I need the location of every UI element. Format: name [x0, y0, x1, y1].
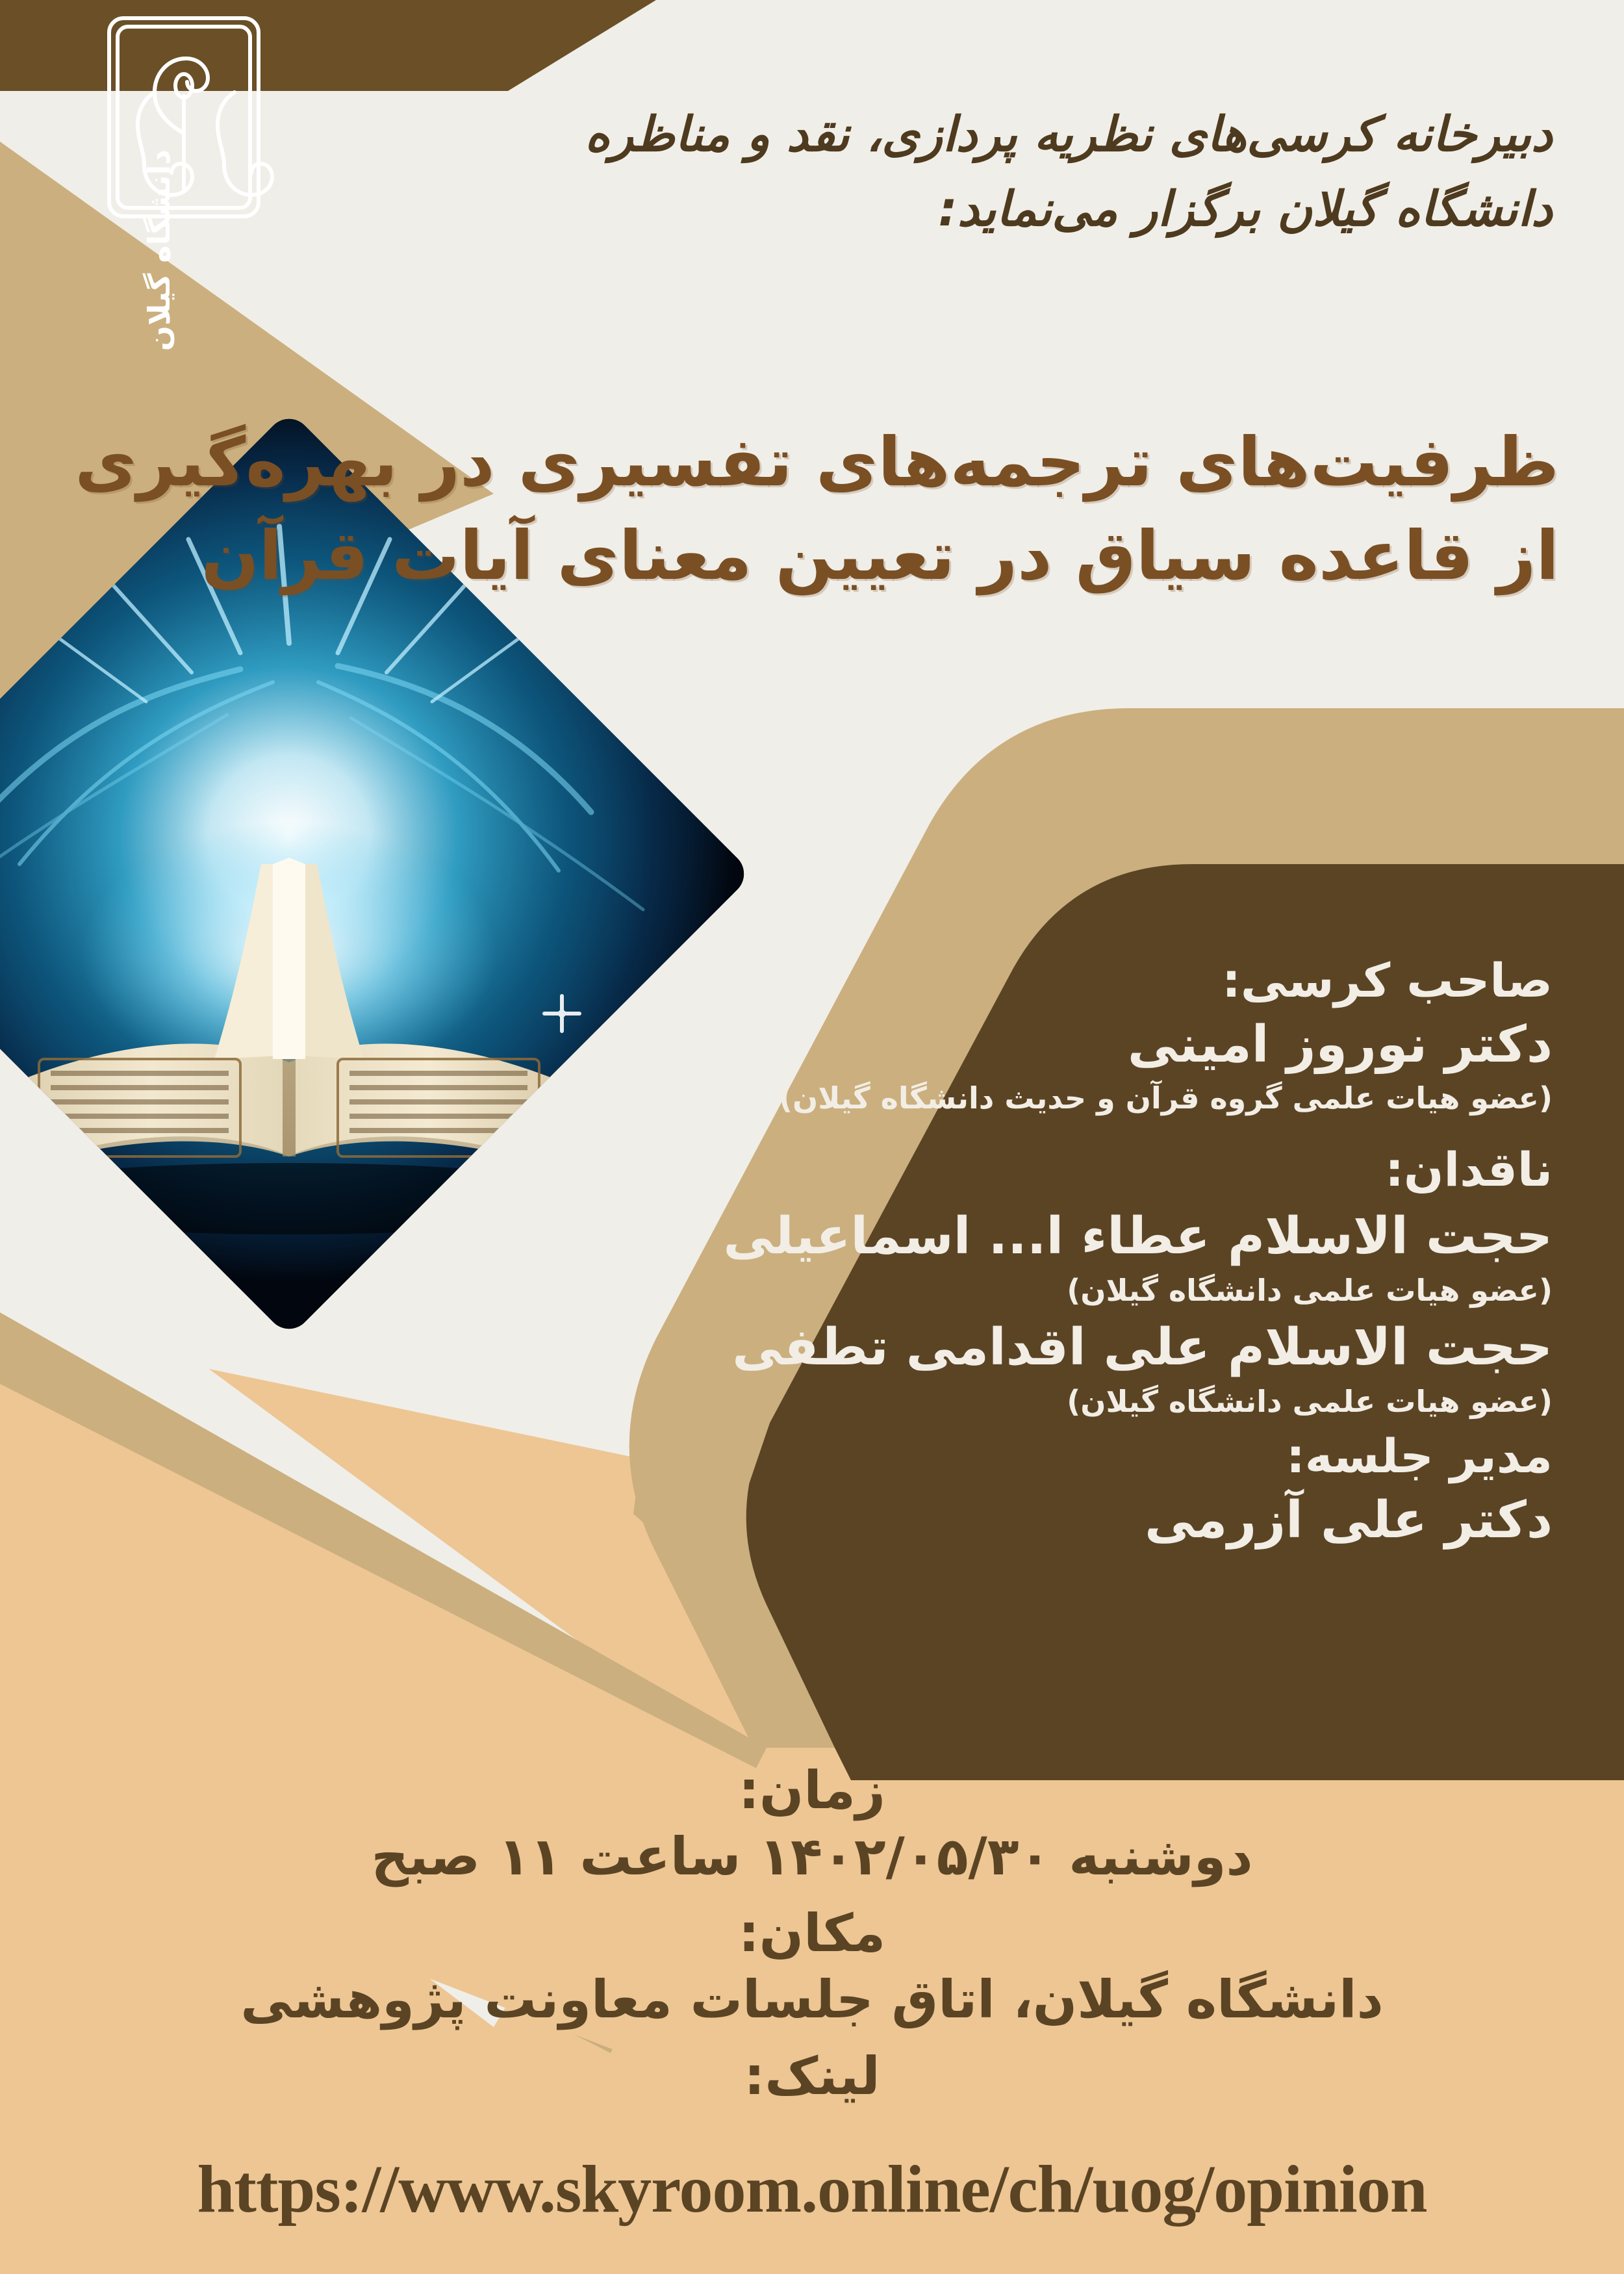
place-value: دانشگاه گیلان، اتاق جلسات معاونت پژوهشی: [0, 1966, 1624, 2034]
participants-panel: صاحب کرسی: دکتر نوروز امینی (عضو هیات عل…: [689, 929, 1553, 1553]
critic-2-name: حجت الاسلام علی اقدامی تطفی: [689, 1315, 1553, 1381]
title-line-2: از قاعده سیاق در تعیین معنای آیات قرآن: [52, 509, 1559, 603]
critic-1-name: حجت الاسلام عطاء ا... اسماعیلی: [689, 1204, 1553, 1270]
moderator-label: مدیر جلسه:: [689, 1427, 1553, 1485]
organizer-line-1: دبیرخانه کرسی‌های نظریه پردازی، نقد و من…: [500, 97, 1553, 172]
event-details: زمان: دوشنبه ۱۴۰۲/۰۵/۳۰ ساعت ۱۱ صبح مکان…: [0, 1748, 1624, 2109]
event-poster: دانشگاه گیلان دبیرخانه کرسی‌های نظریه پر…: [0, 0, 1624, 2274]
time-label: زمان:: [0, 1758, 1624, 1823]
page-title: ظرفیت‌های ترجمه‌های تفسیری در بهره‌گیری …: [52, 416, 1559, 602]
logo-wordmark: دانشگاه گیلان: [110, 149, 208, 273]
critic-1-affiliation: (عضو هیات علمی دانشگاه گیلان): [689, 1271, 1553, 1310]
title-line-1: ظرفیت‌های ترجمه‌های تفسیری در بهره‌گیری: [52, 416, 1559, 509]
place-label: مکان:: [0, 1901, 1624, 1966]
critics-label: ناقدان:: [689, 1140, 1553, 1199]
critic-2-affiliation: (عضو هیات علمی دانشگاه گیلان): [689, 1383, 1553, 1422]
chair-name: دکتر نوروز امینی: [689, 1012, 1553, 1078]
chair-affiliation: (عضو هیات علمی گروه قرآن و حدیث دانشگاه …: [689, 1079, 1553, 1118]
moderator-name: دکتر علی آزرمی: [689, 1488, 1553, 1553]
link-label: لینک:: [0, 2044, 1624, 2109]
organizer-line-2: دانشگاه گیلان برگزار می‌نماید:: [500, 172, 1553, 247]
meeting-link[interactable]: https://www.skyroom.online/ch/uog/opinio…: [0, 2151, 1624, 2228]
chair-label: صاحب کرسی:: [689, 951, 1553, 1010]
time-value: دوشنبه ۱۴۰۲/۰۵/۳۰ ساعت ۱۱ صبح: [0, 1823, 1624, 1891]
organizer-header: دبیرخانه کرسی‌های نظریه پردازی، نقد و من…: [500, 97, 1553, 246]
